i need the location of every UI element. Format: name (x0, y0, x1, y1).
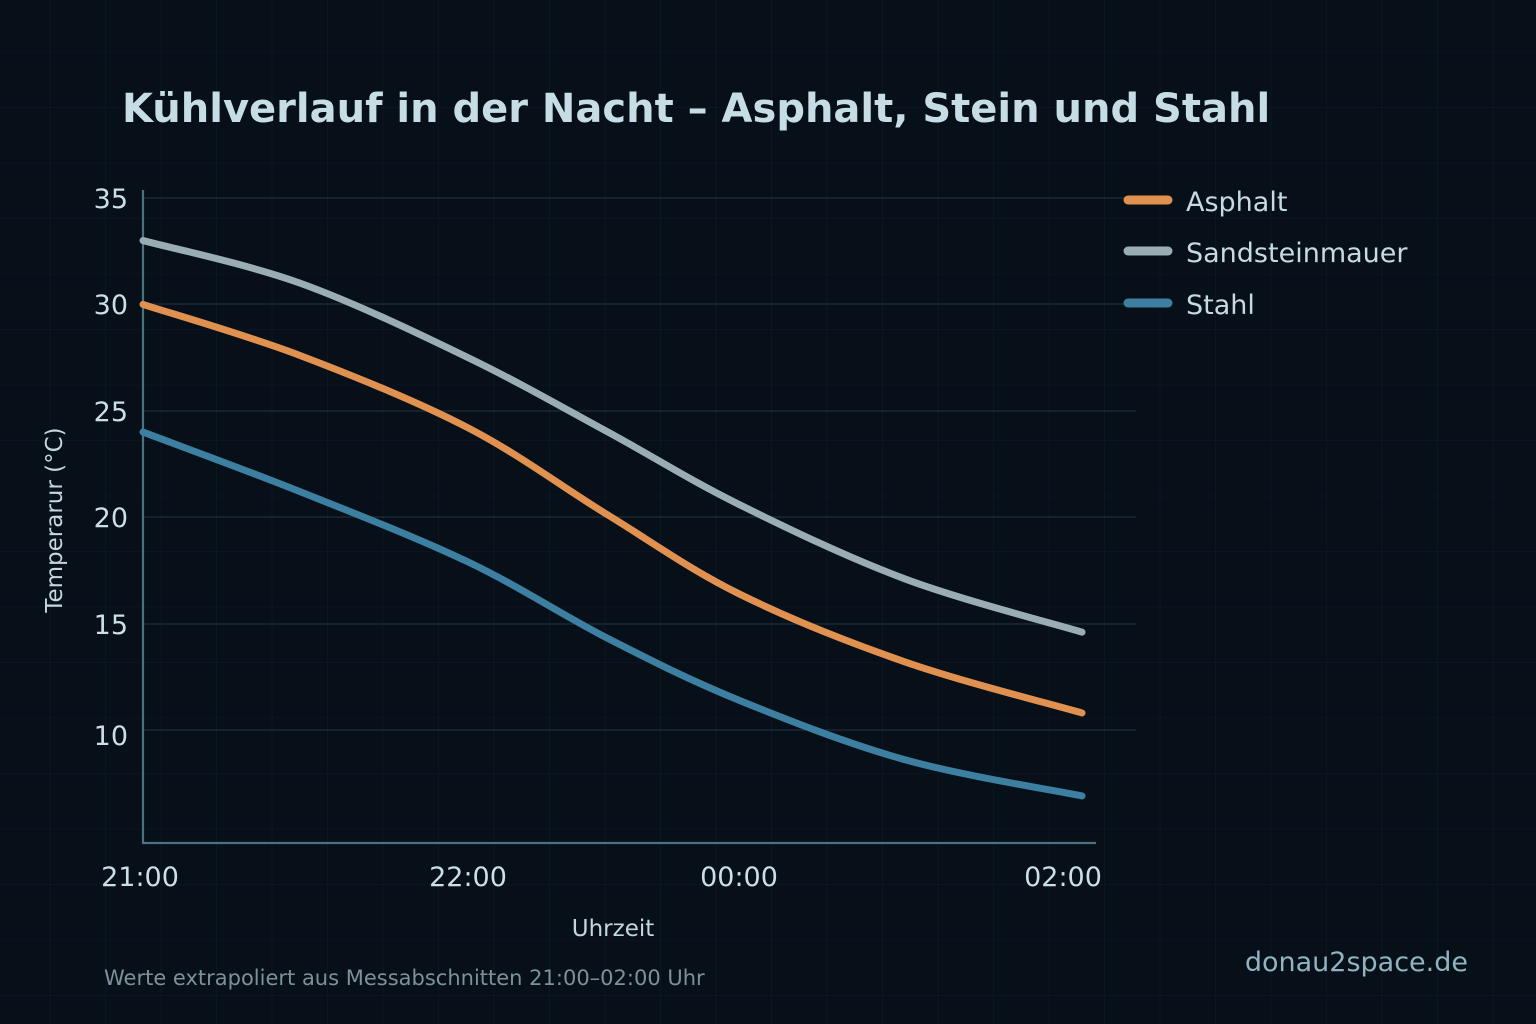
series-line-sandsteinmauer (143, 241, 1082, 633)
y-tick-label: 20 (94, 503, 128, 534)
y-tick-label: 10 (94, 721, 128, 752)
series-line-asphalt (143, 304, 1082, 713)
x-axis-ticks: 21:00 22:00 00:00 02:00 (101, 862, 1102, 893)
y-tick-label: 30 (94, 290, 128, 321)
legend: Asphalt Sandsteinmauer Stahl (1128, 187, 1408, 321)
legend-label-stahl: Stahl (1186, 290, 1255, 321)
y-axis-title: Temperarur (°C) (42, 427, 68, 613)
chart-canvas: Kühlverlauf in der Nacht – Asphalt, Stei… (0, 0, 1536, 1024)
x-tick-label: 21:00 (101, 862, 179, 893)
y-tick-label: 25 (94, 397, 128, 428)
legend-label-sandsteinmauer: Sandsteinmauer (1186, 238, 1408, 269)
y-tick-label: 15 (94, 610, 128, 641)
line-chart: Kühlverlauf in der Nacht – Asphalt, Stei… (0, 0, 1536, 1024)
legend-label-asphalt: Asphalt (1186, 187, 1287, 218)
series-group (143, 241, 1082, 796)
x-axis-title: Uhrzeit (572, 916, 655, 942)
chart-footnote: Werte extrapoliert aus Messabschnitten 2… (104, 966, 705, 990)
x-tick-label: 02:00 (1024, 862, 1102, 893)
watermark: donau2space.de (1245, 947, 1468, 978)
y-axis-ticks: 35 30 25 20 15 10 (94, 184, 128, 752)
x-tick-label: 22:00 (429, 862, 507, 893)
x-tick-label: 00:00 (700, 862, 778, 893)
series-line-stahl (143, 432, 1082, 796)
chart-title: Kühlverlauf in der Nacht – Asphalt, Stei… (122, 86, 1270, 132)
y-tick-label: 35 (94, 184, 128, 215)
